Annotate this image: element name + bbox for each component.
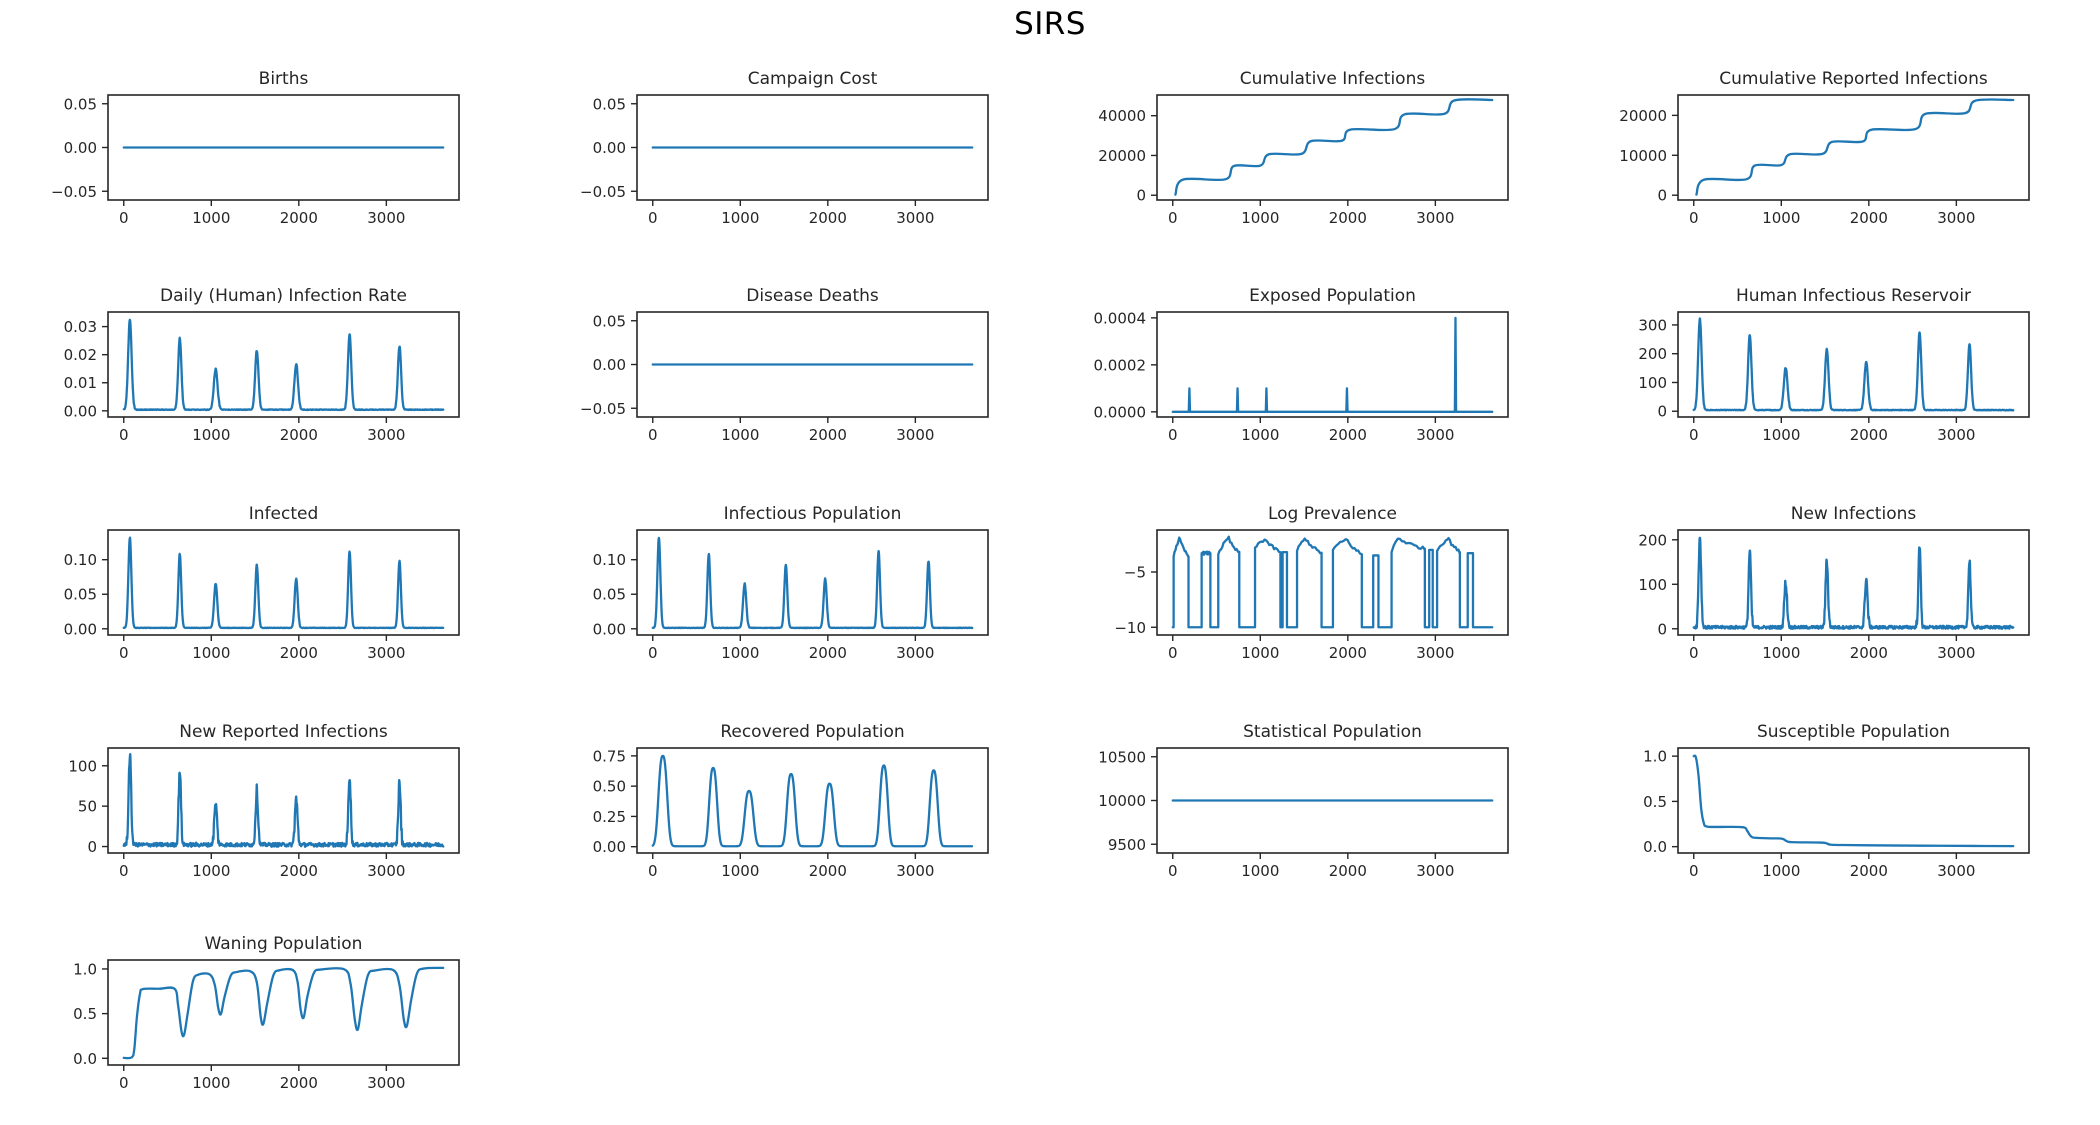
x-tick-label: 3000 (367, 426, 405, 444)
y-tick-label: 0.75 (593, 747, 626, 765)
x-tick-label: 2000 (280, 1074, 318, 1092)
y-tick-label: 0.0 (1643, 838, 1667, 856)
y-tick-label: −0.05 (580, 183, 626, 201)
y-tick-label: 0.03 (64, 318, 97, 336)
y-tick-label: 1.0 (73, 960, 97, 978)
y-tick-label: −10 (1114, 619, 1146, 637)
x-tick-label: 2000 (809, 209, 847, 227)
plot-area: 0.000.250.500.750100020003000 (537, 722, 1006, 899)
x-tick-label: 3000 (367, 644, 405, 662)
axes-frame (108, 748, 459, 853)
x-tick-label: 2000 (1329, 426, 1367, 444)
x-tick-label: 2000 (280, 209, 318, 227)
x-tick-label: 2000 (280, 426, 318, 444)
x-tick-label: 0 (1689, 426, 1699, 444)
x-tick-label: 3000 (1937, 209, 1975, 227)
x-tick-label: 2000 (280, 862, 318, 880)
plot-area: 0.000.050.100100020003000 (537, 504, 1006, 681)
axes-frame (108, 530, 459, 635)
axes-frame (1678, 530, 2029, 635)
y-tick-label: 0.25 (593, 808, 626, 826)
plot-area: 020000400000100020003000 (1057, 69, 1526, 246)
plot-area: −10−50100020003000 (1057, 504, 1526, 681)
chart-panel-recovered-population: Recovered Population0.000.250.500.750100… (537, 722, 1006, 899)
x-tick-label: 1000 (192, 426, 230, 444)
x-tick-label: 2000 (1329, 209, 1367, 227)
chart-panel-disease-deaths: Disease Deaths−0.050.000.050100020003000 (537, 286, 1006, 463)
y-tick-label: 0.05 (64, 586, 97, 604)
x-tick-label: 3000 (1937, 426, 1975, 444)
x-tick-label: 0 (1689, 862, 1699, 880)
x-tick-label: 0 (119, 426, 129, 444)
chart-panel-statistical-population: Statistical Population950010000105000100… (1057, 722, 1526, 899)
axes-frame (1678, 312, 2029, 417)
plot-area: 0.000.010.020.030100020003000 (8, 286, 477, 463)
y-tick-label: 200 (1638, 531, 1667, 549)
y-tick-label: 0.05 (593, 312, 626, 330)
y-tick-label: −0.05 (580, 400, 626, 418)
y-tick-label: 0.10 (593, 551, 626, 569)
x-tick-label: 1000 (192, 862, 230, 880)
y-tick-label: 0.00 (593, 838, 626, 856)
plot-area: 01002000100020003000 (1578, 504, 2047, 681)
chart-panel-cumulative-infections: Cumulative Infections0200004000001000200… (1057, 69, 1526, 246)
y-tick-label: 0.01 (64, 374, 97, 392)
axes-frame (1678, 95, 2029, 200)
x-tick-label: 3000 (896, 426, 934, 444)
x-tick-label: 1000 (721, 862, 759, 880)
chart-panel-human-infectious-reservoir: Human Infectious Reservoir01002003000100… (1578, 286, 2047, 463)
x-tick-label: 2000 (280, 644, 318, 662)
axes-frame (637, 530, 988, 635)
x-tick-label: 2000 (1850, 209, 1888, 227)
x-tick-label: 3000 (896, 644, 934, 662)
x-tick-label: 1000 (192, 209, 230, 227)
x-tick-label: 3000 (1416, 862, 1454, 880)
y-tick-label: 100 (1638, 576, 1667, 594)
y-tick-label: 0.0004 (1094, 309, 1147, 327)
x-tick-label: 1000 (721, 644, 759, 662)
plot-area: 0.000.050.100100020003000 (8, 504, 477, 681)
x-tick-label: 1000 (1241, 426, 1279, 444)
x-tick-label: 1000 (192, 644, 230, 662)
x-tick-label: 3000 (1416, 644, 1454, 662)
y-tick-label: 10500 (1098, 748, 1146, 766)
chart-panel-campaign-cost: Campaign Cost−0.050.000.050100020003000 (537, 69, 1006, 246)
y-tick-label: 1.0 (1643, 748, 1667, 766)
x-tick-label: 0 (119, 862, 129, 880)
axes-frame (637, 748, 988, 853)
x-tick-label: 0 (648, 644, 658, 662)
y-tick-label: 0.00 (593, 139, 626, 157)
x-tick-label: 3000 (896, 862, 934, 880)
data-series-line (1694, 538, 2013, 629)
x-tick-label: 1000 (192, 1074, 230, 1092)
y-tick-label: 40000 (1098, 107, 1146, 125)
data-series-line (1696, 99, 2013, 194)
x-tick-label: 1000 (721, 209, 759, 227)
y-tick-label: 0.05 (593, 95, 626, 113)
x-tick-label: 0 (648, 426, 658, 444)
y-tick-label: 0.00 (593, 620, 626, 638)
data-series-line (124, 754, 443, 847)
plot-area: −0.050.000.050100020003000 (537, 69, 1006, 246)
x-tick-label: 0 (1168, 644, 1178, 662)
plot-area: 010000200000100020003000 (1578, 69, 2047, 246)
data-series-line (653, 538, 972, 628)
y-tick-label: 0.5 (73, 1005, 97, 1023)
figure-canvas: SIRS Births−0.050.000.050100020003000Cam… (0, 0, 2100, 1125)
x-tick-label: 2000 (1850, 862, 1888, 880)
x-tick-label: 0 (1168, 209, 1178, 227)
chart-panel-daily-human-infection-rate: Daily (Human) Infection Rate0.000.010.02… (8, 286, 477, 463)
x-tick-label: 1000 (1241, 862, 1279, 880)
chart-panel-waning-population: Waning Population0.00.51.00100020003000 (8, 934, 477, 1111)
y-tick-label: 0 (87, 838, 97, 856)
y-tick-label: 0 (1657, 620, 1667, 638)
x-tick-label: 2000 (1329, 862, 1367, 880)
y-tick-label: 0.5 (1643, 793, 1667, 811)
data-series-line (1694, 318, 2013, 410)
x-tick-label: 3000 (896, 209, 934, 227)
x-tick-label: 2000 (1850, 426, 1888, 444)
y-tick-label: 300 (1638, 316, 1667, 334)
plot-area: −0.050.000.050100020003000 (537, 286, 1006, 463)
y-tick-label: 0.05 (593, 586, 626, 604)
y-tick-label: 9500 (1108, 836, 1146, 854)
plot-area: 0.00.51.00100020003000 (8, 934, 477, 1111)
x-tick-label: 0 (119, 209, 129, 227)
chart-panel-births: Births−0.050.000.050100020003000 (8, 69, 477, 246)
y-tick-label: 0.50 (593, 778, 626, 796)
data-series-line (124, 538, 443, 628)
plot-area: 0.00000.00020.00040100020003000 (1057, 286, 1526, 463)
axes-frame (1157, 95, 1508, 200)
y-tick-label: 10000 (1098, 792, 1146, 810)
y-tick-label: 200 (1638, 345, 1667, 363)
x-tick-label: 0 (1689, 644, 1699, 662)
x-tick-label: 3000 (1416, 426, 1454, 444)
data-series-line (1694, 756, 2013, 846)
y-tick-label: −0.05 (51, 183, 97, 201)
y-tick-label: 20000 (1098, 147, 1146, 165)
x-tick-label: 3000 (367, 1074, 405, 1092)
x-tick-label: 2000 (1850, 644, 1888, 662)
data-series-line (653, 756, 972, 846)
x-tick-label: 2000 (809, 644, 847, 662)
y-tick-label: 100 (1638, 374, 1667, 392)
chart-panel-infected: Infected0.000.050.100100020003000 (8, 504, 477, 681)
y-tick-label: 100 (68, 757, 97, 775)
axes-frame (108, 312, 459, 417)
y-tick-label: 0.00 (593, 356, 626, 374)
plot-area: −0.050.000.050100020003000 (8, 69, 477, 246)
x-tick-label: 1000 (721, 426, 759, 444)
chart-panel-log-prevalence: Log Prevalence−10−50100020003000 (1057, 504, 1526, 681)
data-series-line (124, 320, 443, 410)
x-tick-label: 3000 (1416, 209, 1454, 227)
chart-panel-susceptible-population: Susceptible Population0.00.51.0010002000… (1578, 722, 2047, 899)
y-tick-label: 0.02 (64, 346, 97, 364)
x-tick-label: 0 (119, 644, 129, 662)
plot-area: 01002003000100020003000 (1578, 286, 2047, 463)
data-series-line (1175, 99, 1492, 194)
y-tick-label: 0.00 (64, 402, 97, 420)
x-tick-label: 0 (1168, 862, 1178, 880)
x-tick-label: 1000 (1762, 862, 1800, 880)
y-tick-label: 0.0002 (1094, 356, 1147, 374)
x-tick-label: 3000 (1937, 862, 1975, 880)
y-tick-label: −5 (1124, 564, 1146, 582)
data-series-line (124, 968, 443, 1058)
x-tick-label: 2000 (809, 862, 847, 880)
figure-title: SIRS (0, 6, 2100, 42)
y-tick-label: 0.00 (64, 139, 97, 157)
chart-panel-infectious-population: Infectious Population0.000.050.100100020… (537, 504, 1006, 681)
y-tick-label: 0.0 (73, 1050, 97, 1068)
y-tick-label: 0 (1657, 403, 1667, 421)
x-tick-label: 1000 (1762, 209, 1800, 227)
chart-panel-new-reported-infections: New Reported Infections05010001000200030… (8, 722, 477, 899)
x-tick-label: 0 (648, 862, 658, 880)
x-tick-label: 0 (648, 209, 658, 227)
y-tick-label: 0.00 (64, 620, 97, 638)
x-tick-label: 0 (119, 1074, 129, 1092)
x-tick-label: 3000 (1937, 644, 1975, 662)
y-tick-label: 0 (1136, 187, 1146, 205)
data-series-line (1173, 318, 1492, 412)
y-tick-label: 0.10 (64, 551, 97, 569)
x-tick-label: 1000 (1762, 644, 1800, 662)
y-tick-label: 0 (1657, 187, 1667, 205)
x-tick-label: 1000 (1762, 426, 1800, 444)
x-tick-label: 3000 (367, 862, 405, 880)
x-tick-label: 0 (1689, 209, 1699, 227)
chart-panel-cumulative-reported-infections: Cumulative Reported Infections0100002000… (1578, 69, 2047, 246)
x-tick-label: 2000 (809, 426, 847, 444)
plot-area: 0.00.51.00100020003000 (1578, 722, 2047, 899)
x-tick-label: 1000 (1241, 644, 1279, 662)
x-tick-label: 2000 (1329, 644, 1367, 662)
axes-frame (1678, 748, 2029, 853)
axes-frame (108, 960, 459, 1065)
x-tick-label: 1000 (1241, 209, 1279, 227)
y-tick-label: 20000 (1619, 107, 1667, 125)
y-tick-label: 0.05 (64, 95, 97, 113)
chart-panel-exposed-population: Exposed Population0.00000.00020.00040100… (1057, 286, 1526, 463)
data-series-line (1173, 537, 1492, 627)
plot-area: 950010000105000100020003000 (1057, 722, 1526, 899)
chart-panel-new-infections: New Infections01002000100020003000 (1578, 504, 2047, 681)
y-tick-label: 10000 (1619, 147, 1667, 165)
y-tick-label: 50 (78, 798, 97, 816)
plot-area: 0501000100020003000 (8, 722, 477, 899)
y-tick-label: 0.0000 (1094, 403, 1147, 421)
x-tick-label: 0 (1168, 426, 1178, 444)
x-tick-label: 3000 (367, 209, 405, 227)
